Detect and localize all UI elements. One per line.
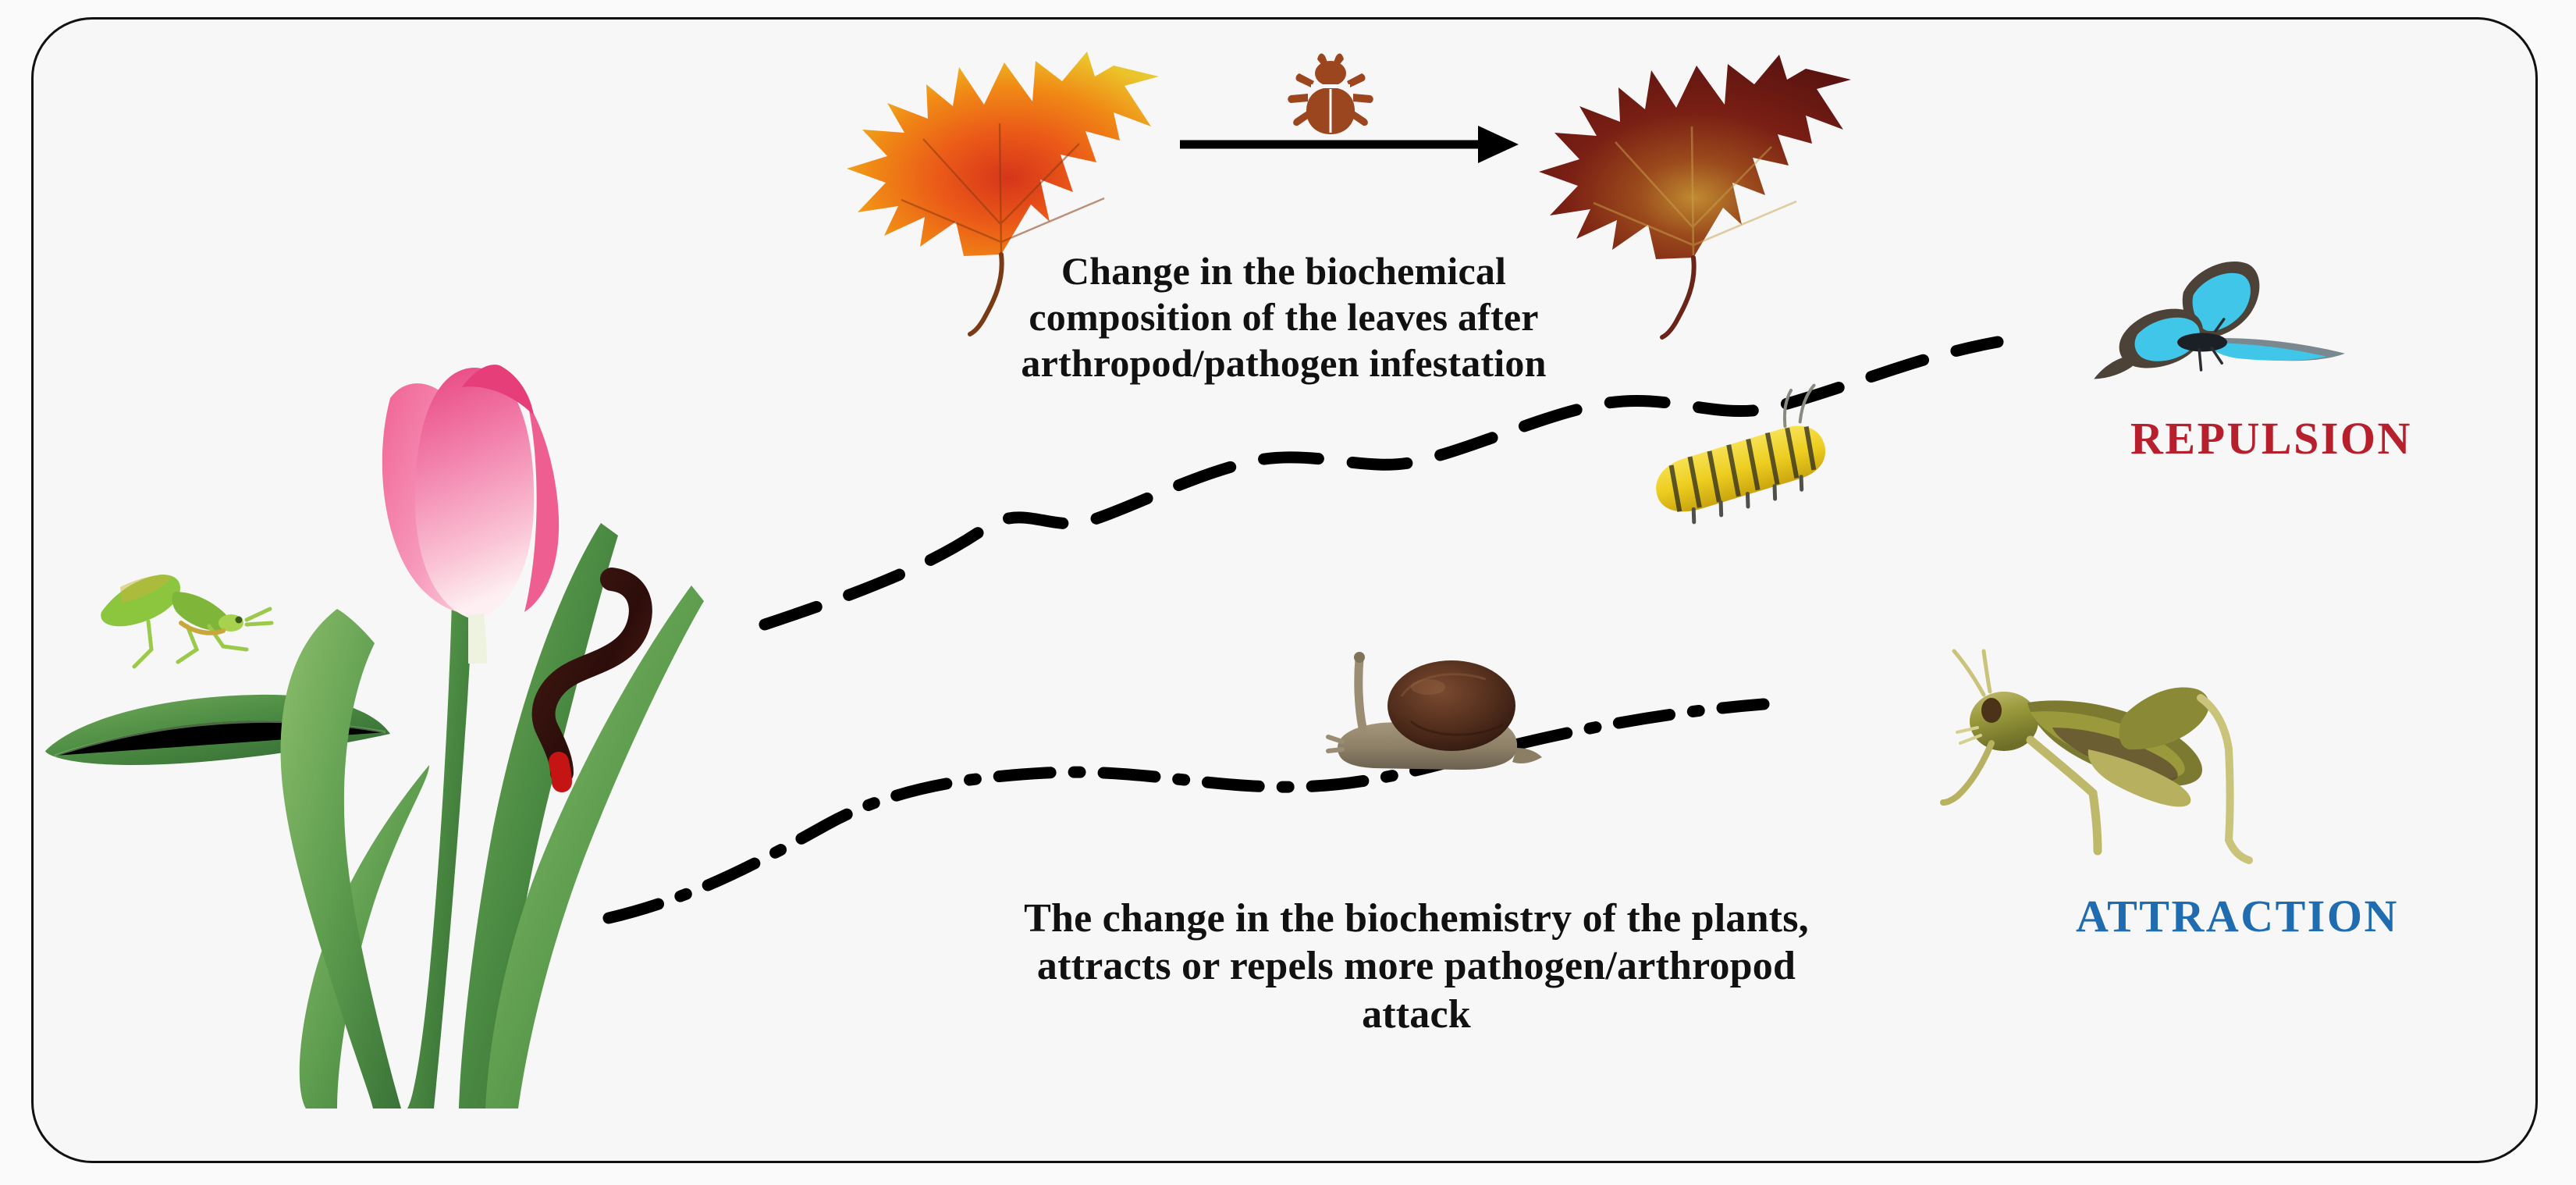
praying-mantis (101, 575, 272, 667)
attraction-label: ATTRACTION (2076, 890, 2399, 942)
repulsion-path (749, 336, 2177, 664)
repulsion-label: REPULSION (2130, 412, 2412, 464)
olive-grasshopper (1943, 646, 2255, 873)
yellow-caterpillar (1627, 397, 1861, 506)
tulip-flower (382, 365, 559, 664)
figure-canvas: Change in the biochemical composition of… (0, 0, 2576, 1185)
blue-ulysses-butterfly (2080, 259, 2353, 415)
bottom-caption: The change in the biochemistry of the pl… (1014, 895, 1818, 1038)
beetle-icon (1280, 47, 1381, 141)
brown-snail (1327, 649, 1561, 806)
infested-maple-leaf (1531, 41, 1859, 337)
